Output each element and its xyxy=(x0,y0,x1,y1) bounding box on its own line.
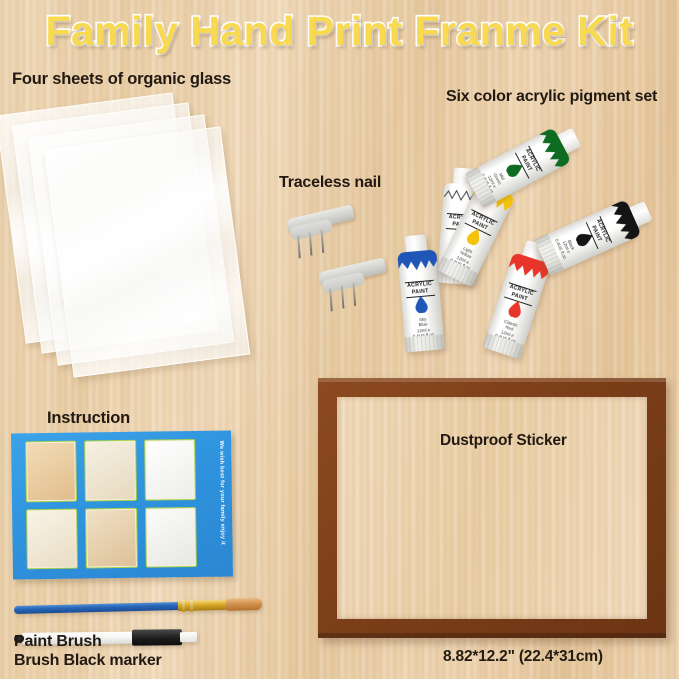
paint-brush xyxy=(14,597,262,617)
product-infographic: Family Hand Print Franme Kit Four sheets… xyxy=(0,0,679,679)
frame-opening xyxy=(337,397,647,619)
instruction-panel xyxy=(84,440,136,501)
glass-section-heading: Four sheets of organic glass xyxy=(12,70,231,89)
picture-frame xyxy=(318,378,666,638)
pigment-section-heading: Six color acrylic pigment set xyxy=(446,88,657,106)
panel-photo-handprint xyxy=(27,443,75,500)
marker-tip-cover xyxy=(180,632,197,642)
instruction-panel xyxy=(144,439,196,500)
organic-glass-stack xyxy=(6,95,274,395)
instruction-sheet: We wish best for your family enjoy it xyxy=(11,430,233,579)
brush-ring xyxy=(190,600,193,612)
brand-line-2: PAINT xyxy=(412,288,429,295)
traceless-nail xyxy=(284,197,366,257)
brush-ferrule xyxy=(178,600,230,611)
tube-crimp xyxy=(405,334,445,352)
brush-ring xyxy=(182,600,185,612)
paint-drop-icon xyxy=(507,299,525,319)
nail-section-heading: Traceless nail xyxy=(279,174,381,192)
instruction-panel xyxy=(25,441,77,502)
page-title: Family Hand Print Franme Kit xyxy=(0,8,679,55)
frame-size-caption: 8.82*12.2" (22.4*31cm) xyxy=(443,648,603,666)
paint-tube-black: ACRYLIC PAINT Black 12ml e 0.4US fl.oz. xyxy=(529,189,658,281)
marker-cap xyxy=(132,629,182,646)
paint-drop-icon xyxy=(414,295,428,313)
panel-photo-paint xyxy=(86,442,134,499)
instruction-panel xyxy=(26,508,78,569)
instruction-panel xyxy=(85,507,137,568)
instruction-panel-grid xyxy=(25,439,197,569)
panel-photo-glass xyxy=(28,510,76,567)
paint-tube-mid-green: ACRYLIC PAINT Mid Green 12ml e 0.4US fl.… xyxy=(459,116,587,214)
brush-handle xyxy=(14,602,182,614)
black-marker-label: Brush Black marker xyxy=(14,652,162,670)
paint-brush-label: Paint Brush xyxy=(14,633,102,651)
instruction-panel xyxy=(145,506,197,567)
glass-sheet xyxy=(44,126,250,377)
panel-photo-frame xyxy=(146,441,194,498)
brush-bristles xyxy=(226,598,262,611)
panel-photo-assemble xyxy=(147,508,195,565)
panel-photo-marker xyxy=(87,509,135,566)
dustproof-sticker-label: Dustproof Sticker xyxy=(440,432,567,450)
instruction-wish-text: We wish best for your family enjoy it xyxy=(213,441,226,567)
traceless-nail xyxy=(316,250,398,310)
instruction-section-heading: Instruction xyxy=(47,409,130,428)
